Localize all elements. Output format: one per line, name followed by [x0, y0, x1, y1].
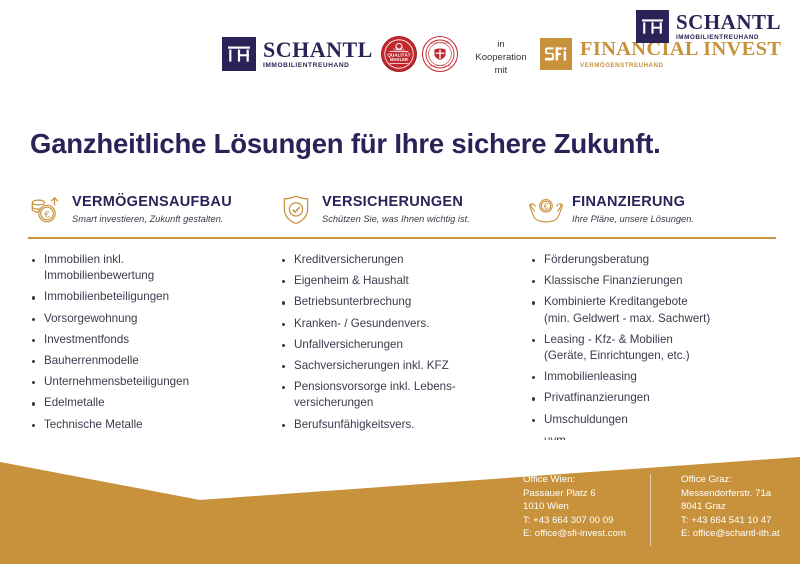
svg-text:Österreich: Österreich	[393, 48, 406, 52]
list-vermoegensaufbau: Immobilien inkl.ImmobilienbewertungImmob…	[28, 252, 278, 459]
category-title-wrap: VERMÖGENSAUFBAU Smart investieren, Zukun…	[72, 195, 232, 224]
footer-contacts: Office Wien: Passauer Platz 6 1010 Wien …	[523, 473, 800, 541]
office-name: Office Graz:	[681, 473, 800, 487]
category-versicherungen: VERSICHERUNGEN Schützen Sie, was Ihnen w…	[278, 188, 528, 232]
list-item: Technische Metalle	[28, 417, 278, 433]
list-item-text: Unfallversicherungen	[294, 338, 403, 351]
ith-monogram-icon	[222, 37, 256, 71]
list-item-continuation: (Geräte, Einrichtungen, etc.)	[544, 348, 778, 364]
kooperation-line-1: in	[466, 38, 536, 51]
logo-schantl-topright: SCHANTL IMMOBILIENTREUHAND	[636, 10, 781, 43]
list-item: Investmentfonds	[28, 332, 278, 348]
list-item-text: Immobilienbeteiligungen	[44, 290, 169, 303]
office-street: Messendorferstr. 71a	[681, 487, 800, 501]
list-item-text: Kreditversicherungen	[294, 253, 404, 266]
list-item: Immobilien inkl.Immobilienbewertung	[28, 252, 278, 284]
category-vermoegensaufbau: € VERMÖGENSAUFBAU Smart investieren, Zuk…	[28, 188, 278, 232]
list-item-text: Umschuldungen	[544, 413, 628, 426]
list-item-text: Eigenheim & Haushalt	[294, 274, 409, 287]
sfi-subtitle: VERMÖGENSTREUHAND	[580, 63, 781, 69]
office-email[interactable]: E: office@schantl-ith.at	[681, 527, 800, 541]
schantl-name: SCHANTL	[676, 12, 781, 33]
list-finanzierung: FörderungsberatungKlassische Finanzierun…	[528, 252, 778, 454]
list-item-text: Klassische Finanzierungen	[544, 274, 683, 287]
list-item-text: Immobilienleasing	[544, 370, 637, 383]
kooperation-line-2: Kooperation	[466, 51, 536, 64]
category-title-wrap: FINANZIERUNG Ihre Pläne, unsere Lösungen…	[572, 195, 694, 224]
list-versicherungen: KreditversicherungenEigenheim & Haushalt…	[278, 252, 528, 459]
category-subtitle: Smart investieren, Zukunft gestalten.	[72, 214, 232, 224]
gerichtlich-zertifiziert-seal-icon: ALLGEM. BEEIDET GERICHTL. ZERT. SV	[422, 36, 458, 72]
svg-text:MAKLER: MAKLER	[390, 57, 408, 62]
list-item: Betriebsunterbrechung	[278, 294, 528, 310]
list-item: Edelmetalle	[28, 395, 278, 411]
category-header: VERSICHERUNGEN Schützen Sie, was Ihnen w…	[278, 188, 528, 232]
schantl-subtitle: IMMOBILIENTREUHAND	[263, 63, 373, 70]
list-item-text: Immobilien inkl.	[44, 253, 124, 266]
office-wien-block: Office Wien: Passauer Platz 6 1010 Wien …	[523, 473, 648, 541]
sfi-monogram-icon	[540, 38, 572, 70]
list-item: Klassische Finanzierungen	[528, 273, 778, 289]
svg-text:ALLGEM. BEEIDET: ALLGEM. BEEIDET	[430, 42, 450, 45]
qualitaet-makler-seal-icon: Österreich QUALITÄT MAKLER	[381, 36, 417, 72]
list-item: Vorsorgewohnung	[28, 311, 278, 327]
gold-divider-rule	[28, 237, 776, 239]
list-item-text: Technische Metalle	[44, 418, 143, 431]
list-item: Unternehmensbeteiligungen	[28, 374, 278, 390]
list-item-text: Edelmetalle	[44, 396, 105, 409]
hands-holding-coin-icon: €	[528, 192, 564, 228]
category-finanzierung: € FINANZIERUNG Ihre Pläne, unsere Lösung…	[528, 188, 778, 232]
list-item-text: Förderungsberatung	[544, 253, 649, 266]
kooperation-label: in Kooperation mit	[466, 38, 536, 77]
list-item: Immobilienbeteiligungen	[28, 289, 278, 305]
list-item-text: Kranken- / Gesundenvers.	[294, 317, 429, 330]
list-item-text: Bauherrenmodelle	[44, 354, 139, 367]
list-item: Förderungsberatung	[528, 252, 778, 268]
list-item: Unfallversicherungen	[278, 337, 528, 353]
list-item: Sachversicherungen inkl. KFZ	[278, 358, 528, 374]
list-item-continuation: (min. Geldwert - max. Sachwert)	[544, 311, 778, 327]
list-item-text: Privatfinanzierungen	[544, 391, 650, 404]
list-item: Immobilienleasing	[528, 369, 778, 385]
list-item: Privatfinanzierungen	[528, 390, 778, 406]
category-title: FINANZIERUNG	[572, 195, 694, 211]
list-item: Umschuldungen	[528, 412, 778, 428]
svg-text:GERICHTL. ZERT. SV: GERICHTL. ZERT. SV	[429, 66, 451, 68]
list-item-text: Kombinierte Kreditangebote	[544, 295, 688, 308]
office-graz-block: Office Graz: Messendorferstr. 71a 8041 G…	[665, 473, 800, 541]
category-header: € VERMÖGENSAUFBAU Smart investieren, Zuk…	[28, 188, 278, 232]
category-subtitle: Schützen Sie, was Ihnen wichtig ist.	[322, 214, 470, 224]
list-item-text: Betriebsunterbrechung	[294, 295, 411, 308]
list-item: Berufsunfähigkeitsvers.	[278, 417, 528, 433]
list-item: Leasing - Kfz- & Mobilien(Geräte, Einric…	[528, 332, 778, 364]
list-item-text: Sachversicherungen inkl. KFZ	[294, 359, 449, 372]
category-headers: € VERMÖGENSAUFBAU Smart investieren, Zuk…	[28, 188, 776, 232]
logo-bar: SCHANTL IMMOBILIENTREUHAND Österreich QU…	[0, 0, 800, 108]
poster-page: SCHANTL IMMOBILIENTREUHAND Österreich QU…	[0, 0, 800, 564]
schantl-wordmark: SCHANTL IMMOBILIENTREUHAND	[263, 39, 373, 70]
list-item-text: Investmentfonds	[44, 333, 129, 346]
logo-schantl-primary: SCHANTL IMMOBILIENTREUHAND Österreich QU…	[222, 36, 458, 72]
schantl-name: SCHANTL	[263, 39, 373, 61]
list-item-continuation: versicherungen	[294, 395, 528, 411]
schantl-wordmark: SCHANTL IMMOBILIENTREUHAND	[676, 12, 781, 41]
kooperation-line-3: mit	[466, 64, 536, 77]
category-header: € FINANZIERUNG Ihre Pläne, unsere Lösung…	[528, 188, 778, 232]
list-item: Kreditversicherungen	[278, 252, 528, 268]
category-title-wrap: VERSICHERUNGEN Schützen Sie, was Ihnen w…	[322, 195, 470, 224]
svg-text:€: €	[544, 202, 549, 211]
list-item: Kranken- / Gesundenvers.	[278, 316, 528, 332]
office-name: Office Wien:	[523, 473, 648, 487]
office-phone[interactable]: T: +43 664 307 00 09	[523, 514, 648, 528]
coins-arrow-up-euro-icon: €	[28, 192, 64, 228]
category-title: VERSICHERUNGEN	[322, 195, 470, 211]
list-item: Eigenheim & Haushalt	[278, 273, 528, 289]
ith-monogram-icon	[636, 10, 669, 43]
office-city: 8041 Graz	[681, 500, 800, 514]
list-item-text: Unternehmensbeteiligungen	[44, 375, 189, 388]
category-title: VERMÖGENSAUFBAU	[72, 195, 232, 211]
list-item-text: Pensionsvorsorge inkl. Lebens-	[294, 380, 456, 393]
list-item-text: Berufsunfähigkeitsvers.	[294, 418, 415, 431]
list-item-text: Vorsorgewohnung	[44, 312, 137, 325]
office-street: Passauer Platz 6	[523, 487, 648, 501]
contact-divider	[650, 474, 651, 546]
shield-check-icon	[278, 192, 314, 228]
schantl-subtitle: IMMOBILIENTREUHAND	[676, 35, 781, 41]
list-item: Pensionsvorsorge inkl. Lebens-versicheru…	[278, 379, 528, 411]
office-email[interactable]: E: office@sfi-invest.com	[523, 527, 648, 541]
list-item: Bauherrenmodelle	[28, 353, 278, 369]
sfi-wordmark: FINANCIAL INVEST VERMÖGENSTREUHAND	[580, 39, 781, 69]
page-headline: Ganzheitliche Lösungen für Ihre sichere …	[30, 128, 775, 160]
list-item-continuation: Immobilienbewertung	[44, 268, 278, 284]
office-city: 1010 Wien	[523, 500, 648, 514]
category-subtitle: Ihre Pläne, unsere Lösungen.	[572, 214, 694, 224]
svg-text:€: €	[44, 210, 50, 221]
office-phone[interactable]: T: +43 664 541 10 47	[681, 514, 800, 528]
list-item: Kombinierte Kreditangebote(min. Geldwert…	[528, 294, 778, 326]
list-item-text: Leasing - Kfz- & Mobilien	[544, 333, 673, 346]
